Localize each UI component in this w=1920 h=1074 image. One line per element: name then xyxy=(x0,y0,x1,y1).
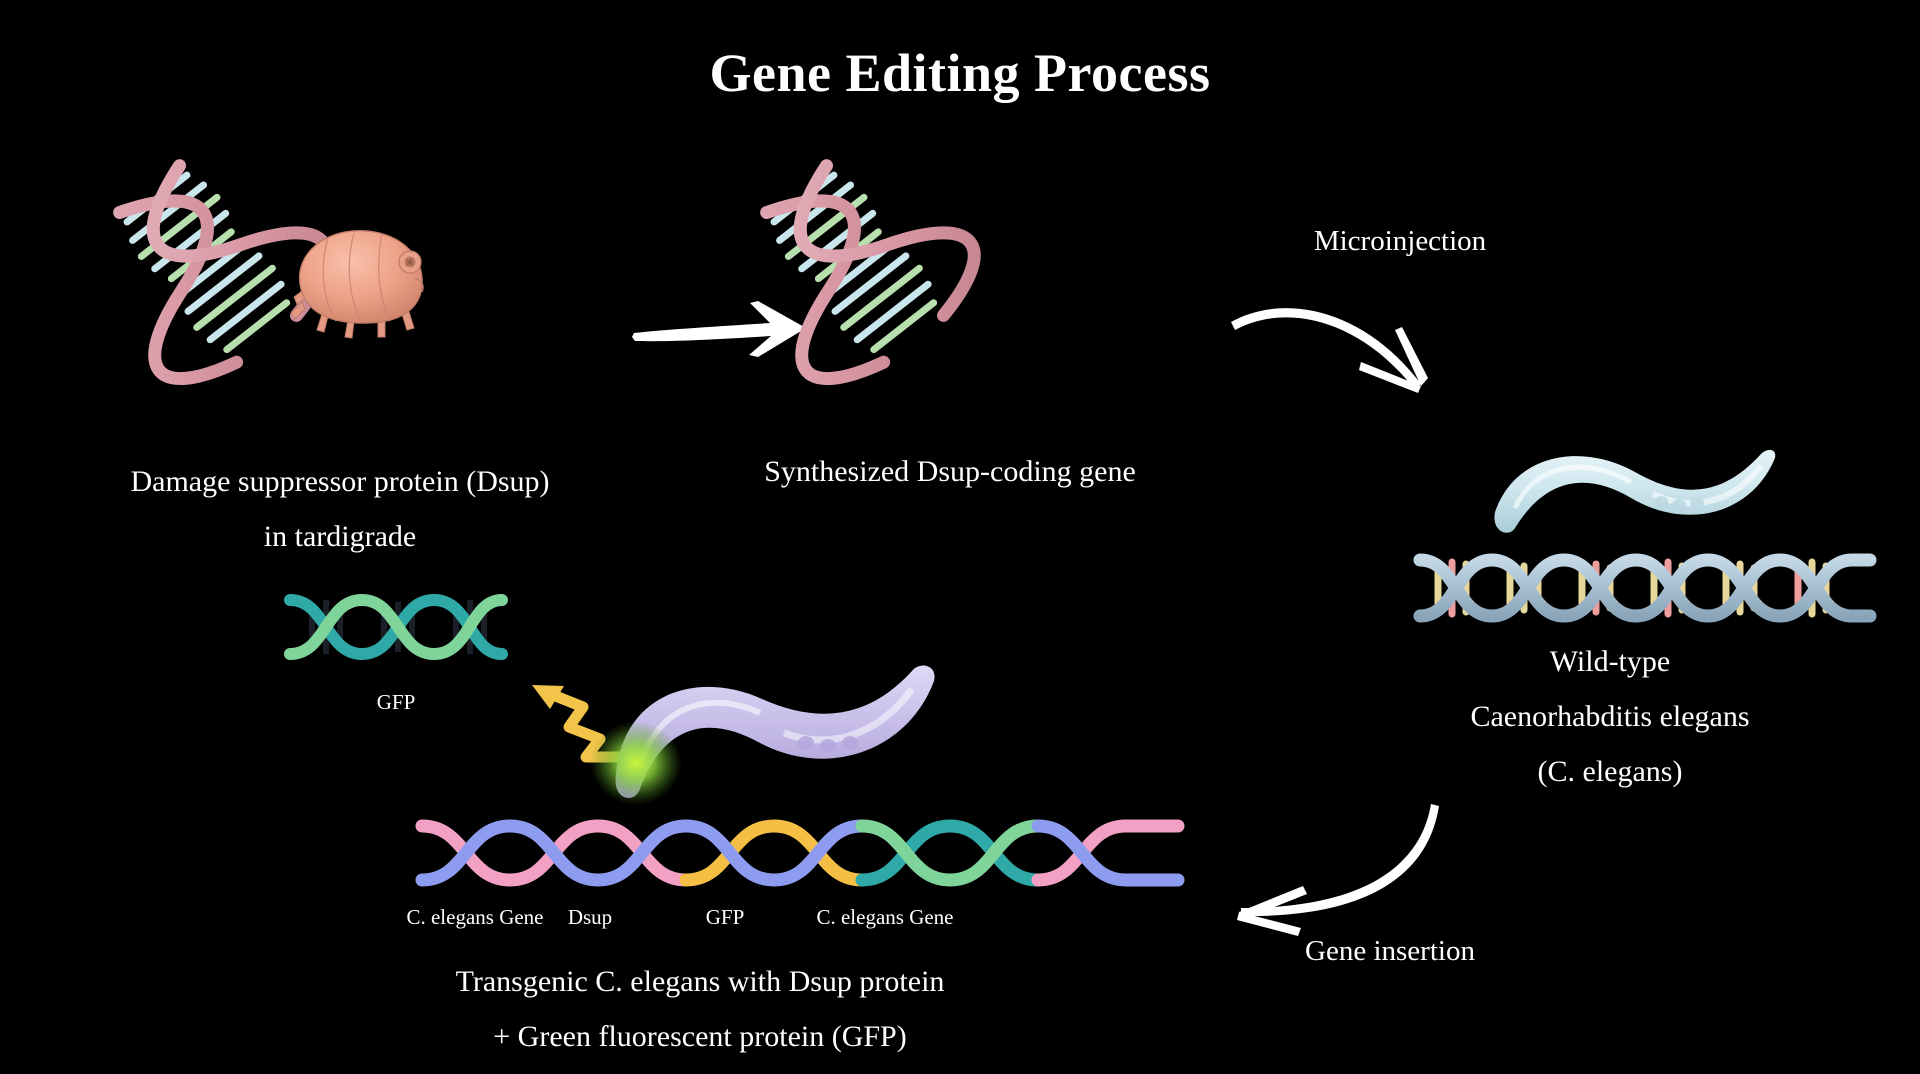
caption-wildtype-line3: (C. elegans) xyxy=(1390,750,1830,794)
gfp-dna-helix xyxy=(286,590,506,665)
caption-wildtype-line1: Wild-type xyxy=(1390,640,1830,684)
wildtype-worm-illustration xyxy=(1485,432,1785,552)
caption-transgenic-line2: + Green fluorescent protein (GFP) xyxy=(300,1015,1100,1059)
transgenic-worm-illustration xyxy=(600,655,1000,815)
caption-wildtype-line2: Caenorhabditis elegans xyxy=(1390,695,1830,739)
synthesized-dna-helix xyxy=(752,160,952,360)
wildtype-dna-helix xyxy=(1420,548,1870,628)
caption-transgenic-line1: Transgenic C. elegans with Dsup protein xyxy=(300,960,1100,1004)
step-gene-insertion-label: Gene insertion xyxy=(1230,935,1550,968)
diagram-canvas: Gene Editing Process xyxy=(0,0,1920,1074)
step-microinjection-label: Microinjection xyxy=(1240,225,1560,258)
caption-synthesized-gene: Synthesized Dsup-coding gene xyxy=(640,450,1260,494)
dsup-dna-helix xyxy=(105,160,305,360)
tardigrade-illustration xyxy=(286,222,431,342)
transgenic-dna-helix xyxy=(420,808,1180,898)
caption-dsup-line2: in tardigrade xyxy=(0,515,680,559)
segment-label-1: Dsup xyxy=(510,905,670,930)
caption-dsup-line1: Damage suppressor protein (Dsup) xyxy=(0,460,680,504)
gfp-helix-label: GFP xyxy=(286,690,506,715)
segment-label-3: C. elegans Gene xyxy=(755,905,1015,930)
page-title: Gene Editing Process xyxy=(0,42,1920,104)
curved-arrow-left-icon xyxy=(1215,800,1445,940)
curved-arrow-icon xyxy=(1225,280,1455,410)
